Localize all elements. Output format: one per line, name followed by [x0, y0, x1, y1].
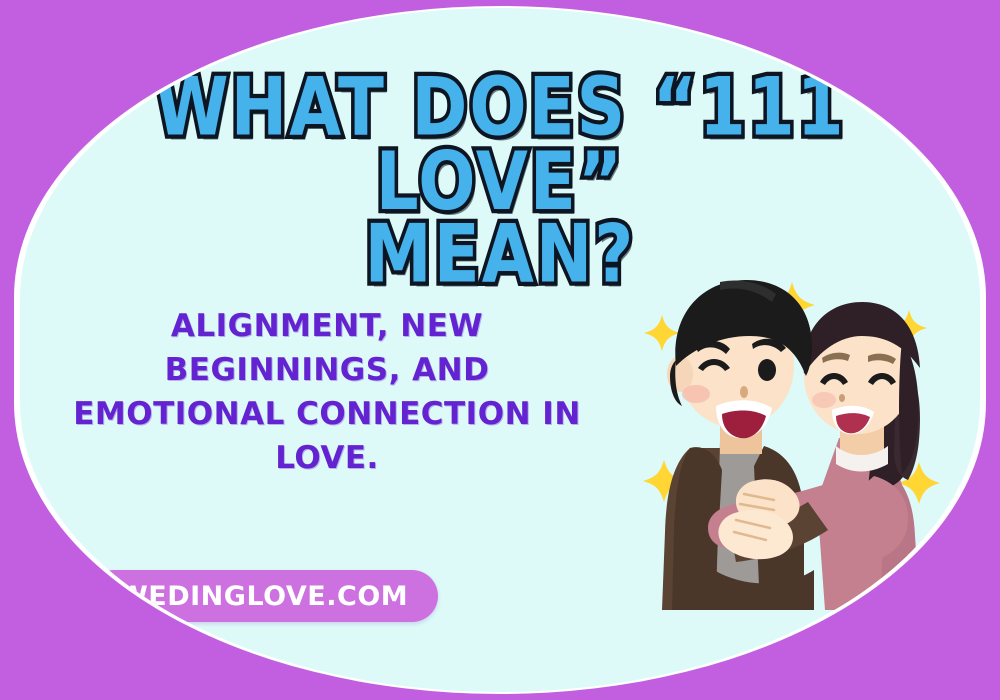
- poster-canvas: WHAT DOES “111 LOVE” MEAN? ALIGNMENT, NE…: [0, 0, 1000, 700]
- man-cheek-blush: [682, 385, 710, 403]
- title-line-1: WHAT DOES “111 LOVE”: [72, 70, 929, 220]
- website-badge[interactable]: WEDINGLOVE.COM: [88, 570, 438, 622]
- hugging-couple-illustration: [624, 270, 956, 610]
- man-nose: [740, 386, 748, 398]
- website-badge-label: WEDINGLOVE.COM: [118, 581, 408, 612]
- man-eye-right: [758, 359, 776, 381]
- sparkle-star-icon: [644, 315, 680, 351]
- page-title: WHAT DOES “111 LOVE” MEAN?: [80, 70, 920, 296]
- subtitle-text: ALIGNMENT, NEW BEGINNINGS, AND EMOTIONAL…: [68, 304, 586, 480]
- woman-cheek-blush: [812, 392, 836, 408]
- content-panel: WHAT DOES “111 LOVE” MEAN? ALIGNMENT, NE…: [20, 8, 980, 692]
- woman-nose: [839, 394, 845, 402]
